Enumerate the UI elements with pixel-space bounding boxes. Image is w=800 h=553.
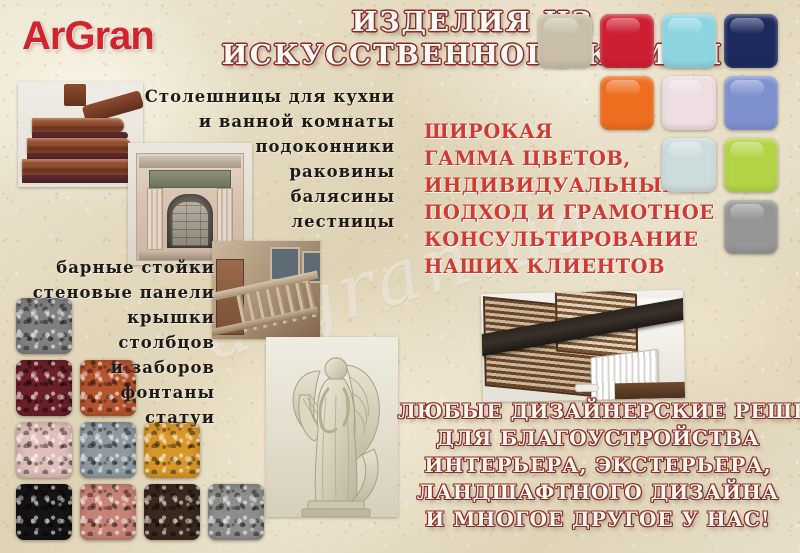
product-list-item: и заборов (30, 355, 215, 380)
stone-sample-blue-grey-granite[interactable] (80, 422, 136, 478)
color-swatch-grid (538, 14, 790, 242)
color-swatch-periwinkle[interactable] (724, 76, 778, 130)
color-swatch-orange[interactable] (600, 76, 654, 130)
slogan-line: ДЛЯ БЛАГОУСТРОЙСТВА (398, 425, 798, 452)
color-swatch-crimson-red[interactable] (600, 14, 654, 68)
color-swatch-pale-aqua[interactable] (662, 138, 716, 192)
stair-newel-post (64, 84, 86, 106)
brand-logo: ArGran (22, 14, 154, 59)
stone-sample-ochre-yellow[interactable] (144, 422, 200, 478)
slogan-line: ИНТЕРЬЕРА, ЭКСТЕРЬЕРА, (398, 452, 798, 479)
fireplace-column (147, 188, 163, 250)
photo-window-sill-radiator (481, 290, 685, 402)
product-list-item: барные стойки (30, 255, 215, 280)
stair-step (22, 159, 136, 176)
stone-sample-dark-brown[interactable] (144, 484, 200, 540)
poster-canvas: argran.ua ArGran ИЗДЕЛИЯ ИЗ ИСКУССТВЕННО… (0, 0, 800, 553)
color-swatch-navy-blue[interactable] (724, 14, 778, 68)
color-swatch-pale-pink[interactable] (662, 76, 716, 130)
product-list-item: статуи (30, 405, 215, 430)
fireplace-mantel (139, 156, 241, 168)
product-list-item: крышки столбцов (30, 305, 215, 355)
fireplace-opening (167, 194, 213, 248)
product-list-item: стеновые панели (30, 280, 215, 305)
stone-sample-black-granite[interactable] (16, 484, 72, 540)
stone-sample-grey-speckled[interactable] (208, 484, 264, 540)
product-list-bottom: барные стойки стеновые панели крышки сто… (30, 255, 215, 430)
fireplace-frieze (149, 170, 231, 188)
stone-sample-rose-granite[interactable] (80, 484, 136, 540)
color-swatch-beige[interactable] (538, 14, 592, 68)
angel-statue-illustration (266, 337, 398, 517)
color-swatch-grey[interactable] (724, 200, 778, 254)
color-swatch-light-cyan[interactable] (662, 14, 716, 68)
product-list-item: фонтаны (30, 380, 215, 405)
color-range-line: НАШИХ КЛИЕНТОВ (424, 253, 724, 280)
product-list-item: Столешницы для кухни (120, 84, 395, 109)
color-swatch-lime-green[interactable] (724, 138, 778, 192)
radiator-pipe (575, 384, 599, 393)
slogan-text: ЛЮБЫЕ ДИЗАЙНЕРСКИЕ РЕШЕНИЯ ДЛЯ БЛАГОУСТР… (398, 398, 798, 533)
slogan-line: ЛАНДШАФТНОГО ДИЗАЙНА (398, 479, 798, 506)
stair-step (27, 138, 131, 154)
floor (615, 382, 685, 399)
stone-sample-pink-granite[interactable] (16, 422, 72, 478)
stair-step (32, 118, 124, 133)
fireplace-firebox-brick (172, 202, 208, 246)
slogan-line: ЛЮБЫЕ ДИЗАЙНЕРСКИЕ РЕШЕНИЯ (398, 398, 798, 425)
product-list-item: и ванной комнаты (120, 109, 395, 134)
slogan-line: И МНОГОЕ ДРУГОЕ У НАС! (398, 506, 798, 533)
photo-angel-statue (266, 337, 398, 517)
